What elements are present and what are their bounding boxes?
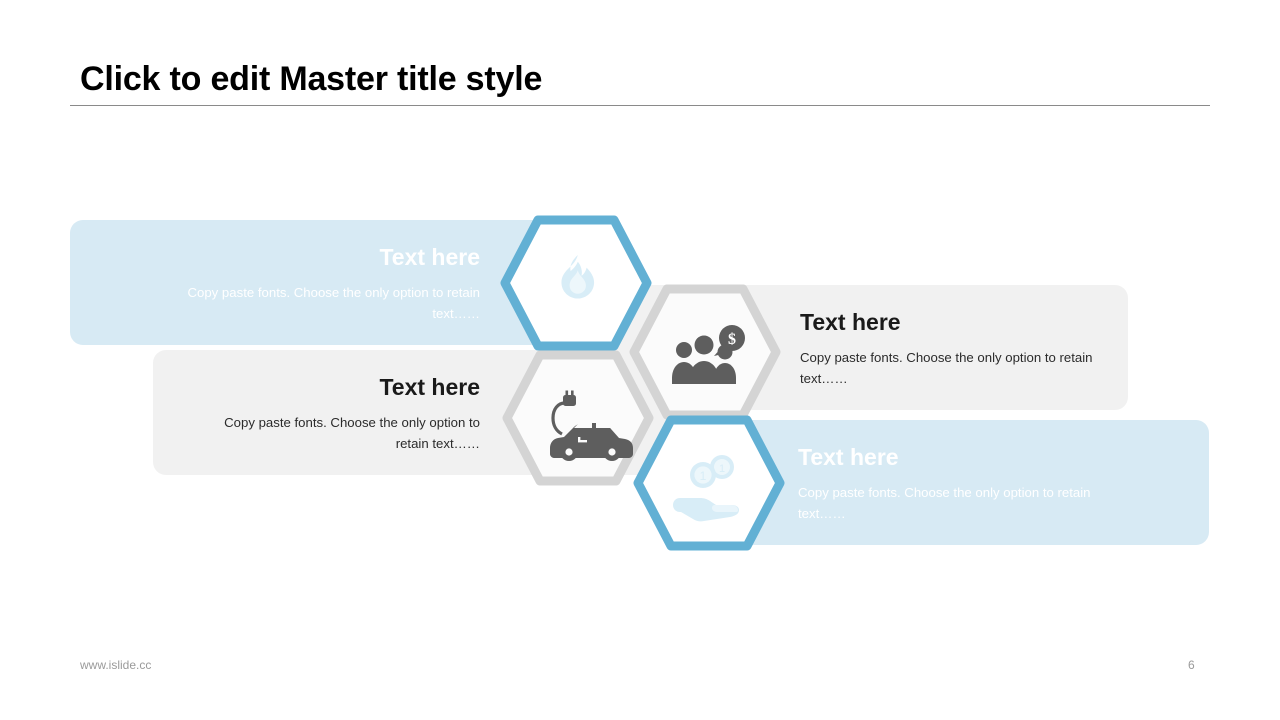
svg-text:$: $ [728, 331, 736, 348]
hexagon-badge-4[interactable]: 1 1 [633, 415, 785, 551]
svg-text:1: 1 [700, 469, 707, 483]
hexagon-badge-3[interactable] [502, 350, 654, 486]
panel-4-body: Copy paste fonts. Choose the only option… [798, 482, 1133, 525]
panel-1-title: Text here [379, 244, 480, 271]
svg-text:1: 1 [719, 463, 725, 475]
hexagon-outline [507, 355, 649, 481]
footer-url[interactable]: www.islide.cc [80, 658, 151, 672]
page-title: Click to edit Master title style [80, 60, 542, 99]
page-number: 6 [1188, 658, 1195, 672]
panel-3-title: Text here [379, 374, 480, 401]
title-divider [70, 105, 1210, 106]
panel-2-body: Copy paste fonts. Choose the only option… [800, 347, 1100, 390]
hexagon-badge-1[interactable] [500, 215, 652, 351]
panel-4-title: Text here [798, 444, 899, 471]
panel-2-title: Text here [800, 309, 901, 336]
panel-3-body: Copy paste fonts. Choose the only option… [190, 412, 480, 455]
panel-1-body: Copy paste fonts. Choose the only option… [155, 282, 480, 325]
